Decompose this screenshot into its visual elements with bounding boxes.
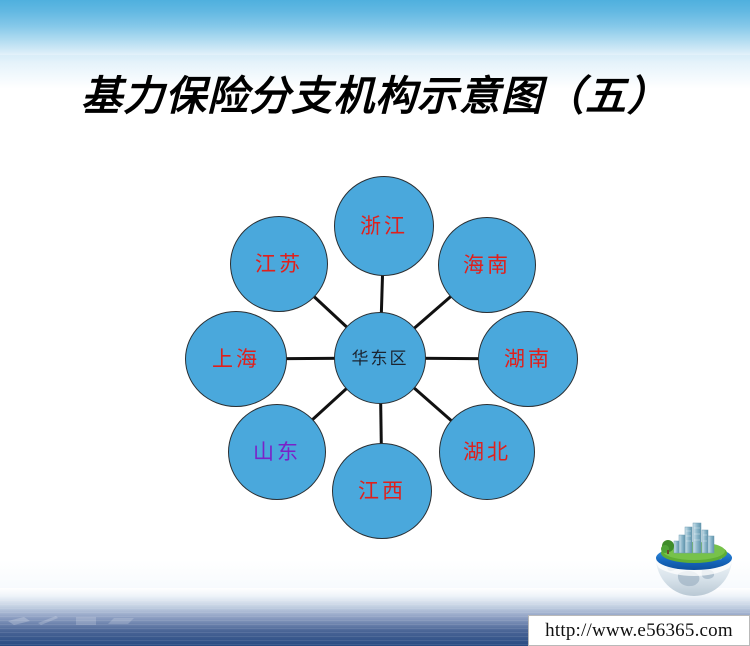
node-label: 山东 [253, 442, 301, 463]
node-shanghai[interactable]: 上海 [185, 311, 287, 407]
node-hubei[interactable]: 湖北 [439, 404, 535, 500]
node-label: 江西 [358, 481, 406, 502]
node-label: 湖北 [463, 442, 511, 463]
watermark-url-box: http://www.e56365.com [528, 615, 750, 646]
node-zhejiang[interactable]: 浙江 [334, 176, 434, 276]
node-label: 湖南 [504, 349, 552, 370]
node-shandong[interactable]: 山东 [228, 404, 326, 500]
node-jiangxi[interactable]: 江西 [332, 443, 432, 539]
node-hub-east-china[interactable]: 华东区 [334, 312, 426, 404]
node-label: 海南 [463, 255, 511, 276]
node-jiangsu[interactable]: 江苏 [230, 216, 328, 312]
node-label: 浙江 [360, 216, 408, 237]
globe-city-logo-icon [648, 522, 740, 602]
slide-canvas: 基力保险分支机构示意图（五） 浙江 海南 湖南 湖北 [0, 0, 750, 646]
watermark-url-text: http://www.e56365.com [545, 620, 733, 642]
node-hunan[interactable]: 湖南 [478, 311, 578, 407]
org-diagram: 浙江 海南 湖南 湖北 江西 山东 上海 江苏 华东区 [0, 0, 750, 646]
node-label: 华东区 [352, 350, 409, 367]
node-hainan[interactable]: 海南 [438, 217, 536, 313]
node-label: 上海 [212, 349, 260, 370]
node-label: 江苏 [255, 254, 303, 275]
